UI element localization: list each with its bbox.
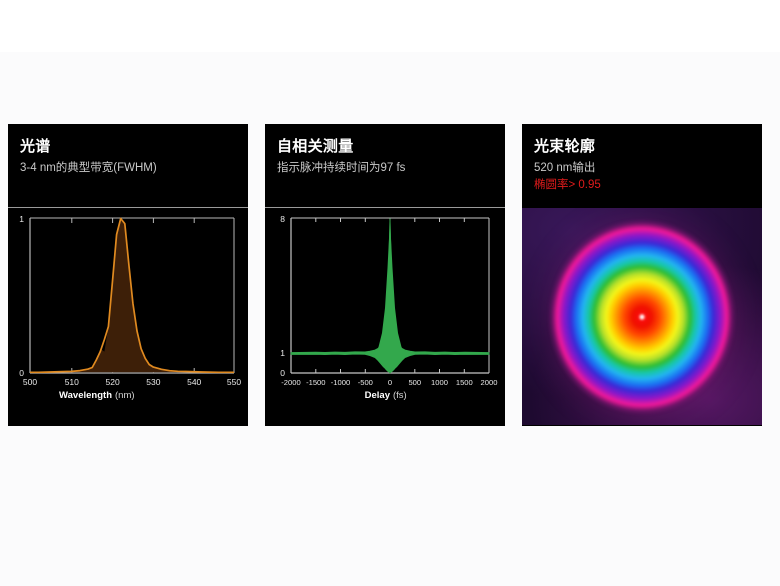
- panel-beam-profile-subtitle: 520 nm输出: [534, 160, 750, 177]
- autocorrelation-ytick-0: 0: [280, 368, 285, 378]
- spectrum-ytick-1: 1: [19, 214, 24, 224]
- panel-beam-profile-body: [522, 208, 762, 426]
- autocorrelation-xaxis-label: Delay: [365, 390, 391, 401]
- panel-autocorrelation-body: 8 1 0 -2000 -1500 -1000 -500 0 500 1000 …: [265, 208, 505, 426]
- autocorrelation-xtick--1000: -1000: [331, 378, 350, 387]
- panel-beam-profile-header: 光束轮廓 520 nm输出 椭圆率> 0.95: [522, 124, 762, 208]
- spectrum-xaxis-label: Wavelength: [59, 390, 112, 401]
- panel-autocorrelation-title: 自相关测量: [277, 138, 493, 156]
- spectrum-xtick-550: 550: [227, 377, 241, 387]
- autocorrelation-xtick--500: -500: [358, 378, 373, 387]
- panel-spectrum-title: 光谱: [20, 138, 236, 156]
- autocorrelation-peak: [365, 219, 415, 373]
- page-root: 光谱 3-4 nm的典型带宽(FWHM): [0, 0, 780, 586]
- autocorrelation-xtick--2000: -2000: [281, 378, 300, 387]
- autocorrelation-xtick-0: 0: [388, 378, 392, 387]
- spectrum-xtick-510: 510: [65, 377, 79, 387]
- autocorrelation-xtick-1500: 1500: [456, 378, 473, 387]
- spectrum-xtick-540: 540: [187, 377, 201, 387]
- autocorrelation-ytick-1: 1: [280, 348, 285, 358]
- autocorrelation-xtick-500: 500: [408, 378, 421, 387]
- top-whitespace-band: [0, 0, 780, 52]
- autocorrelation-ytick-8: 8: [280, 214, 285, 224]
- panel-autocorrelation-header: 自相关测量 指示脉冲持续时间为97 fs: [265, 124, 505, 208]
- beam-intensity-rings: [548, 219, 736, 415]
- spectrum-xtick-500: 500: [23, 377, 37, 387]
- panel-spectrum-body: 1 0 500 510 520 530 540 550 Wavelength (…: [8, 208, 248, 426]
- panel-beam-profile-ellipticity: 椭圆率> 0.95: [534, 177, 750, 194]
- spectrum-chart: 1 0 500 510 520 530 540 550 Wavelength (…: [8, 208, 248, 425]
- autocorrelation-chart: 8 1 0 -2000 -1500 -1000 -500 0 500 1000 …: [265, 208, 505, 425]
- autocorrelation-xtick-1000: 1000: [431, 378, 448, 387]
- spectrum-xtick-520: 520: [106, 377, 120, 387]
- panel-autocorrelation[interactable]: 自相关测量 指示脉冲持续时间为97 fs: [265, 124, 505, 426]
- autocorrelation-xtick-2000: 2000: [481, 378, 498, 387]
- spectrum-xtick-530: 530: [146, 377, 160, 387]
- beam-profile-heatmap: [522, 208, 762, 425]
- panel-beam-profile-title: 光束轮廓: [534, 138, 750, 156]
- panel-beam-profile[interactable]: 光束轮廓 520 nm输出 椭圆率> 0.95: [522, 124, 762, 426]
- panel-row: 光谱 3-4 nm的典型带宽(FWHM): [8, 124, 772, 426]
- panel-spectrum-subtitle: 3-4 nm的典型带宽(FWHM): [20, 160, 236, 177]
- panel-spectrum[interactable]: 光谱 3-4 nm的典型带宽(FWHM): [8, 124, 248, 426]
- autocorrelation-xtick--1500: -1500: [306, 378, 325, 387]
- spectrum-xaxis-unit: (nm): [115, 390, 135, 401]
- panel-spectrum-header: 光谱 3-4 nm的典型带宽(FWHM): [8, 124, 248, 208]
- panel-autocorrelation-subtitle: 指示脉冲持续时间为97 fs: [277, 160, 493, 177]
- autocorrelation-xaxis-unit: (fs): [393, 390, 407, 401]
